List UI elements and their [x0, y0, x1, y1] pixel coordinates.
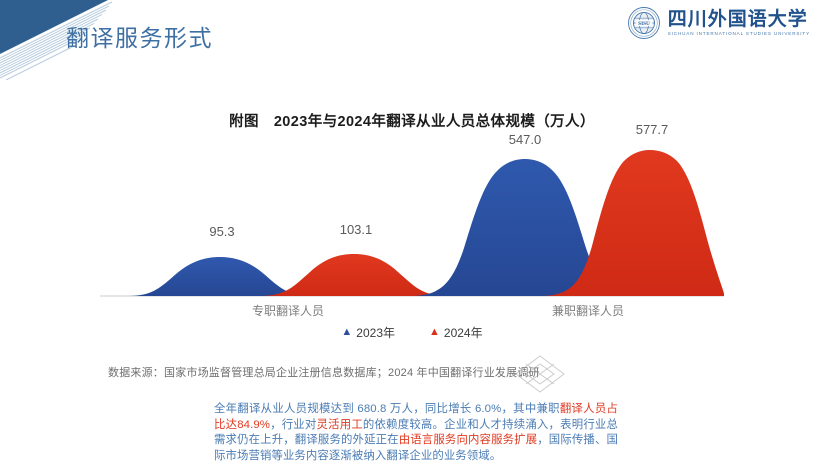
summary-segment-2: ，行业对 — [270, 419, 317, 431]
data-label-2023-fulltime: 95.3 — [209, 224, 234, 239]
data-label-2024-parttime: 577.7 — [636, 122, 669, 137]
university-name-en: SICHUAN INTERNATIONAL STUDIES UNIVERSITY — [668, 31, 810, 36]
curve-2023-fulltime — [128, 257, 312, 296]
summary-paragraph: 全年翻译从业人员规模达到 680.8 万人，同比增长 6.0%，其中兼职翻译人员… — [214, 402, 618, 464]
legend-label-2024: 2024年 — [444, 324, 483, 341]
data-label-2024-fulltime: 103.1 — [340, 222, 373, 237]
category-label-parttime: 兼职翻译人员 — [552, 302, 624, 319]
logo-text-block: 四川外国语大学 SICHUAN INTERNATIONAL STUDIES UN… — [668, 10, 810, 37]
data-label-2023-parttime: 547.0 — [509, 132, 542, 147]
legend-item-2023[interactable]: ▲ 2023年 — [341, 324, 395, 341]
curve-2024-fulltime — [260, 254, 448, 296]
category-label-fulltime: 专职翻译人员 — [252, 302, 324, 319]
chart-plot-area: 95.3 103.1 547.0 577.7 专职翻译人员 兼职翻译人员 — [100, 144, 724, 304]
university-name-cn: 四川外国语大学 — [668, 10, 810, 30]
chart-panel: 附图 2023年与2024年翻译从业人员总体规模（万人） — [100, 92, 724, 352]
triangle-marker-icon: ▲ — [341, 327, 352, 338]
sisu-globe-emblem-icon: SISU — [627, 6, 661, 40]
page-title: 翻译服务形式 — [66, 19, 213, 53]
source-note: 数据来源：国家市场监督管理总局企业注册信息数据库；2024 年中国翻译行业发展调… — [108, 364, 540, 380]
legend-item-2024[interactable]: ▲ 2024年 — [429, 324, 483, 341]
chart-legend: ▲ 2023年 ▲ 2024年 — [100, 324, 724, 341]
svg-text:SISU: SISU — [638, 21, 650, 27]
summary-segment-1: 全年翻译从业人员规模达到 680.8 万人，同比增长 6.0%，其中兼职 — [214, 403, 560, 415]
summary-highlight-3: 由语言服务向内容服务扩展 — [399, 434, 538, 446]
triangle-marker-icon: ▲ — [429, 327, 440, 338]
slide-header: 翻译服务形式 SISU 四川外国语大学 SICHUAN INTERNATIONA… — [0, 0, 824, 62]
chart-title: 附图 2023年与2024年翻译从业人员总体规模（万人） — [100, 110, 724, 131]
density-curves-svg — [100, 144, 724, 304]
legend-label-2023: 2023年 — [356, 324, 395, 341]
university-logo: SISU 四川外国语大学 SICHUAN INTERNATIONAL STUDI… — [627, 6, 810, 40]
summary-highlight-2: 灵活用工 — [317, 419, 363, 431]
